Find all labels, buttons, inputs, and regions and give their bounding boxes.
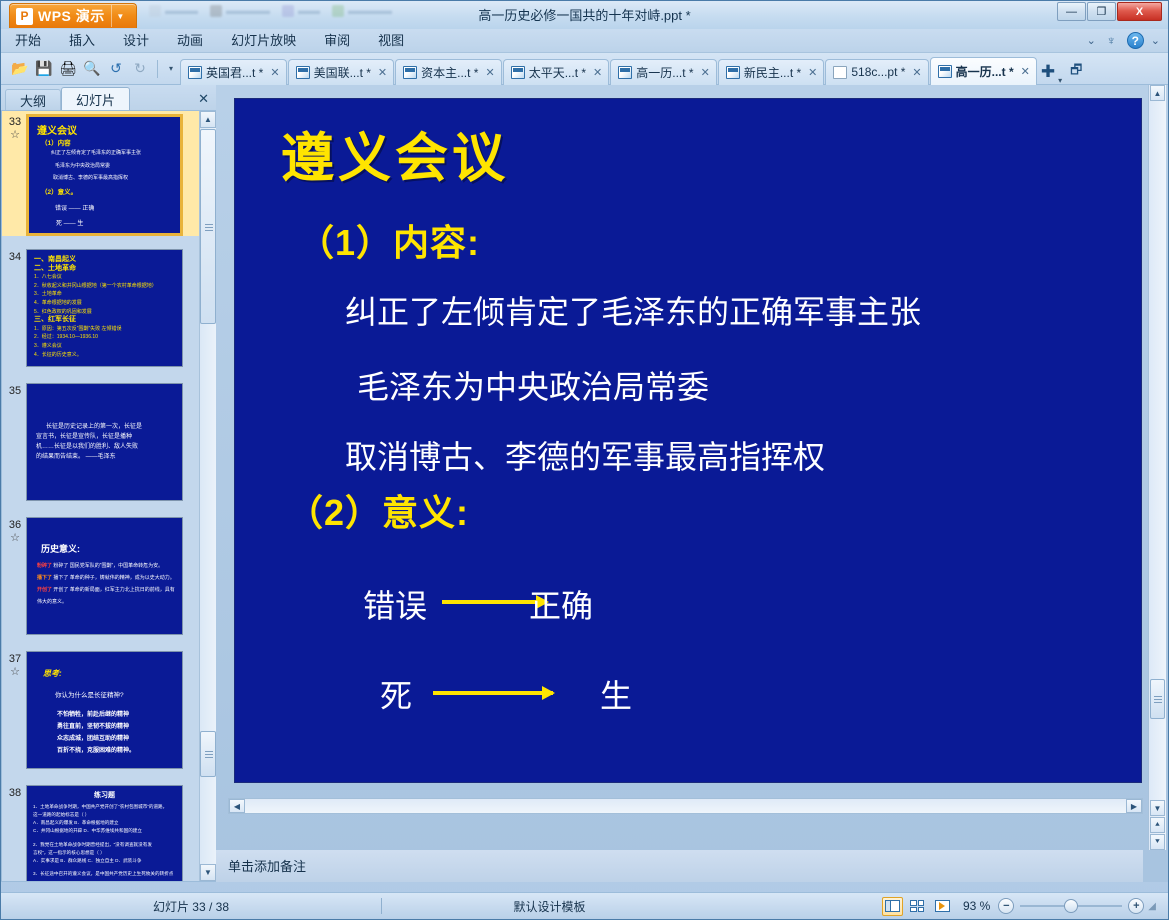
toolbar-separator (157, 60, 158, 78)
thumb-line: 5．红色政权的巩固和发展 (34, 308, 178, 317)
scrollbar-grip-icon (205, 751, 213, 760)
title-bar: P WPS 演示 ▼ ▬▬▬ ▬▬▬▬ ▬▬ ▬▬▬▬ 高一历史必修一国共的十年… (1, 1, 1168, 29)
next-slide-button[interactable]: ⯆ (1150, 834, 1165, 850)
scroll-up-button[interactable]: ▲ (200, 111, 216, 128)
pane-tab-bar: 大纲 幻灯片 ✕ (1, 85, 216, 110)
doc-tab-label: 资本主...t * (421, 64, 478, 81)
scroll-left-button[interactable]: ◀ (229, 799, 245, 813)
previous-slide-button[interactable]: ⯅ (1150, 817, 1165, 833)
scrollbar-grip-icon (205, 224, 213, 233)
thumb-line: 百折不挠，克服困难的精神。 (57, 745, 135, 757)
thumb-line: 的结果而告结束。 ——毛泽东 (36, 452, 176, 462)
window-list-icon[interactable]: 🗗 (1066, 59, 1090, 85)
doc-tab-1[interactable]: 美国联...t * ✕ (288, 59, 395, 85)
scroll-right-button[interactable]: ▶ (1126, 799, 1142, 813)
thumb-highlight: 开创了 (37, 587, 52, 593)
thumbnail-number: 35 (4, 385, 26, 398)
thumb-line: 3．长征途中召开的遵义会议，是中国共产党历史上生死攸关的转折点 (33, 870, 178, 878)
doc-tab-label: 高一历...t * (956, 63, 1014, 80)
thumb-line: 粉碎了 国民党军队的“围剿”，中国革命转危为安。 (53, 563, 163, 569)
thumbnail-preview: 长征是历史记录上的第一次，长征是 宣言书，长征是宣传队，长征是播种 机……长征是… (26, 383, 183, 501)
animation-star-icon: ☆ (4, 666, 26, 679)
close-icon[interactable]: ✕ (808, 66, 817, 79)
doc-tab-label: 518c...pt * (851, 65, 905, 79)
resize-grip-icon[interactable]: ◢ (1148, 901, 1156, 912)
open-icon[interactable]: 📂 (9, 58, 31, 80)
thumb-line: 4．长征的历史意义。 (34, 351, 178, 360)
thumbnail-meta: 37 ☆ (4, 651, 26, 679)
thumb-line: 不怕牺牲，前赴后继的精神 (57, 709, 135, 721)
close-icon[interactable]: ✕ (912, 66, 921, 79)
thumbnail-slide-33[interactable]: 33 ☆ 遵义会议 （1）内容 纠正了左倾肯定了毛泽东的正确军事主张 毛泽东为中… (2, 111, 216, 236)
document-icon (833, 66, 847, 79)
current-slide[interactable]: 遵义会议 （1）内容: 纠正了左倾肯定了毛泽东的正确军事主张 毛泽东为中央政治局… (234, 98, 1142, 783)
thumbnail-slide-35[interactable]: 35 长征是历史记录上的第一次，长征是 宣言书，长征是宣传队，长征是播种 机……… (2, 380, 216, 501)
menu-item-view[interactable]: 视图 (364, 29, 418, 53)
wps-presentation-window: P WPS 演示 ▼ ▬▬▬ ▬▬▬▬ ▬▬ ▬▬▬▬ 高一历史必修一国共的十年… (0, 0, 1169, 920)
presentation-icon (938, 65, 952, 78)
print-preview-icon[interactable]: 🔍 (81, 58, 103, 80)
thumbnail-meta: 33 ☆ (4, 114, 26, 142)
zoom-out-button[interactable]: − (998, 898, 1014, 914)
close-button[interactable]: X (1117, 2, 1162, 21)
maximize-button[interactable]: ❐ (1087, 2, 1116, 21)
thumb-line: 机……长征是以我们的胜利、敌人失败 (36, 442, 176, 452)
thumb-line: 3．遵义会议 (34, 342, 178, 351)
thumb-line: 你认为什么是长征精神? (55, 689, 124, 699)
zoom-slider-handle[interactable] (1064, 899, 1078, 913)
thumb-line: 纠正了左倾肯定了毛泽东的正确军事主张 (51, 149, 141, 156)
background-window-tabs: ▬▬▬ ▬▬▬▬ ▬▬ ▬▬▬▬ (137, 5, 392, 17)
thumb-line: 毛泽东为中央政治局常委 (55, 162, 110, 169)
thumb-line: （2）意义。 (41, 186, 77, 196)
thumbnail-meta: 36 ☆ (4, 517, 26, 545)
thumb-line: 错误 —— 正确 (55, 203, 94, 212)
thumbnail-preview: 思考: 你认为什么是长征精神? 不怕牺牲，前赴后继的精神 勇往直前，坚韧不拔的精… (26, 651, 183, 769)
thumb-line: 取消博古、李德的军事最高指挥权 (53, 174, 128, 181)
slide-section-1-heading[interactable]: （1）内容: (298, 214, 480, 266)
thumb-line: 长征是历史记录上的第一次，长征是 (36, 422, 176, 432)
thumb-line: 3．土地革命 (34, 290, 178, 299)
thumbnail-number: 37 (4, 653, 26, 666)
wps-app-label: WPS 演示 (38, 6, 105, 26)
thumb-line: 播下了 革命的种子，铸就伟的精神，成为以史大动力。 (53, 575, 174, 581)
zoom-level-label: 93 % (963, 899, 990, 913)
pair-1-right[interactable]: 正确 (529, 581, 593, 627)
new-tab-dropdown-icon[interactable]: ▾ (1058, 61, 1066, 85)
thumbnail-preview: 练习题 1．土地革命战争时期，中国共产党开创了“农村包围城市”的道路， 这一道路… (26, 785, 183, 882)
scrollbar-thumb[interactable] (200, 129, 216, 324)
zoom-slider[interactable] (1018, 898, 1124, 914)
thumbnail-slide-37[interactable]: 37 ☆ 思考: 你认为什么是长征精神? 不怕牺牲，前赴后继的精神 勇往直前，坚… (2, 648, 216, 769)
thumb-line: 二、土地革命 (34, 265, 178, 274)
slide-content-line-1[interactable]: 纠正了左倾肯定了毛泽东的正确军事主张 (345, 287, 921, 333)
doc-tab-2[interactable]: 资本主...t * ✕ (395, 59, 502, 85)
slide-thumbnail-list[interactable]: 33 ☆ 遵义会议 （1）内容 纠正了左倾肯定了毛泽东的正确军事主张 毛泽东为中… (1, 110, 216, 882)
design-template-label: 默认设计模板 (382, 898, 717, 915)
close-icon[interactable]: ✕ (270, 66, 279, 79)
close-icon[interactable]: ✕ (378, 66, 387, 79)
thumb-line: 死 —— 生 (56, 218, 83, 227)
play-icon (935, 900, 950, 912)
doc-tab-label: 美国联...t * (314, 64, 371, 81)
main-area: 大纲 幻灯片 ✕ 33 ☆ 遵义会议 （1）内容 纠正了左倾肯定了毛泽东的正确军… (1, 85, 1168, 882)
normal-view-icon (885, 900, 900, 912)
skin-icon[interactable]: ♆ (1103, 32, 1120, 49)
pair-1-left[interactable]: 错误 (363, 581, 427, 627)
more-chevron-icon[interactable]: ⌄ (1151, 34, 1160, 47)
chevron-down-icon[interactable]: ▼ (111, 5, 129, 27)
doc-tab-5[interactable]: 新民主...t * ✕ (718, 59, 825, 85)
doc-tab-6[interactable]: 518c...pt * ✕ (825, 59, 928, 85)
undo-icon[interactable]: ↺ (105, 58, 127, 80)
menu-item-start[interactable]: 开始 (1, 29, 55, 53)
menu-item-animation[interactable]: 动画 (163, 29, 217, 53)
status-right-group: 93 % − + ◢ (882, 897, 1168, 916)
toolbar-overflow-icon[interactable]: ▾ (164, 58, 178, 80)
chevron-down-icon[interactable]: ⌄ (1087, 34, 1096, 47)
status-bar: 幻灯片 33 / 38 默认设计模板 93 % − + ◢ (1, 892, 1168, 919)
thumb-line: A．实事求是 B．群众路线 C．独立自主 D．武装斗争 (33, 857, 178, 865)
thumbnail-number: 38 (4, 787, 26, 800)
help-icon[interactable]: ? (1127, 32, 1144, 49)
slideshow-button[interactable] (932, 897, 953, 916)
ghost-tab: ▬▬▬ (149, 5, 198, 17)
pair-2-right[interactable]: 生 (600, 671, 632, 717)
thumbnail-number: 34 (4, 251, 26, 264)
ghost-tab: ▬▬▬▬ (332, 5, 392, 17)
thumbnail-scrollbar[interactable]: ▲ ▼ (199, 111, 216, 881)
vertical-scrollbar[interactable]: ▲ ▼ ⯅ ⯆ (1148, 85, 1166, 850)
scroll-down-button[interactable]: ▼ (200, 864, 216, 881)
thumbnail-meta: 38 (4, 785, 26, 800)
slide-content-line-3[interactable]: 取消博古、李德的军事最高指挥权 (345, 432, 825, 478)
thumb-title: 遵义会议 (37, 122, 77, 137)
thumb-line: 言权”，这一指示的核心思想是（ ） (33, 849, 178, 857)
scrollbar-grip-icon (1154, 696, 1162, 705)
doc-tab-label: 新民主...t * (744, 64, 801, 81)
notes-placeholder[interactable]: 单击添加备注 (216, 850, 1143, 882)
wps-logo-icon: P (16, 8, 33, 25)
scroll-up-button[interactable]: ▲ (1150, 85, 1165, 101)
thumb-line: 4．革命根据地的发展 (34, 299, 178, 308)
tab-outline[interactable]: 大纲 (5, 89, 61, 110)
horizontal-scrollbar[interactable]: ◀ ▶ (228, 798, 1143, 814)
animation-star-icon: ☆ (4, 532, 26, 545)
thumb-line: 2．经过：1934.10—1936.10 (34, 333, 178, 342)
scrollbar-thumb-secondary[interactable] (200, 731, 216, 777)
menu-bar: 开始 插入 设计 动画 幻灯片放映 审阅 视图 ⌄ ♆ ? ⌄ (1, 29, 1168, 53)
slide-canvas-area: 遵义会议 （1）内容: 纠正了左倾肯定了毛泽东的正确军事主张 毛泽东为中央政治局… (216, 85, 1168, 850)
print-icon[interactable]: 🖨 (57, 58, 79, 80)
thumb-line: 一、南昌起义 (34, 256, 178, 265)
close-icon[interactable]: ✕ (701, 66, 710, 79)
presentation-icon (403, 66, 417, 79)
presentation-icon (511, 66, 525, 79)
tab-slides[interactable]: 幻灯片 (61, 87, 130, 110)
menu-item-slideshow[interactable]: 幻灯片放映 (217, 29, 310, 53)
zoom-in-button[interactable]: + (1128, 898, 1144, 914)
slide-section-2-heading[interactable]: （2）意义: (287, 484, 469, 536)
minimize-button[interactable]: — (1057, 2, 1086, 21)
window-controls: — ❐ X (1057, 2, 1162, 21)
quick-access-toolbar: 📂 💾 🖨 🔍 ↺ ↻ ▾ 英国君...t * ✕ 美国联...t * ✕ 资本… (1, 53, 1168, 85)
menu-right-icons: ⌄ ♆ ? ⌄ (1087, 32, 1160, 49)
close-icon[interactable]: ✕ (485, 66, 494, 79)
doc-tab-3[interactable]: 太平天...t * ✕ (503, 59, 610, 85)
scrollbar-thumb[interactable] (1150, 679, 1165, 719)
thumb-line: 勇往直前，坚韧不拔的精神 (57, 721, 135, 733)
thumb-line: 2．秋收起义和井冈山根据地（第一个农村革命根据地） (34, 282, 178, 291)
thumb-title: 练习题 (27, 790, 182, 800)
thumbnail-number: 33 (4, 116, 26, 129)
thumb-line: 2．我党在土地革命战争时期曾经提出，“没有调查就没有发 (33, 841, 178, 849)
document-tab-bar: 英国君...t * ✕ 美国联...t * ✕ 资本主...t * ✕ 太平天.… (180, 53, 1168, 85)
thumb-line: 这一道路的起始标志是（ ） (33, 811, 178, 819)
scroll-down-button[interactable]: ▼ (1150, 800, 1165, 816)
thumb-line: （1）内容 (41, 137, 71, 147)
new-tab-button[interactable]: ✚ (1038, 59, 1058, 85)
presentation-icon (618, 66, 632, 79)
normal-view-button[interactable] (882, 897, 903, 916)
doc-tab-label: 太平天...t * (529, 64, 586, 81)
doc-tab-0[interactable]: 英国君...t * ✕ (180, 59, 287, 85)
thumbnail-preview: 历史意义: 粉碎了 粉碎了 国民党军队的“围剿”，中国革命转危为安。 播下了 播… (26, 517, 183, 635)
thumbnail-preview: 一、南昌起义 二、土地革命 1．八七会议 2．秋收起义和井冈山根据地（第一个农村… (26, 249, 183, 367)
slide-title[interactable]: 遵义会议 (281, 116, 509, 192)
thumb-title: 思考: (43, 668, 62, 679)
thumb-title: 历史意义: (41, 542, 80, 555)
thumb-line: A．南昌起义的爆发 B．革命根据地的建立 (33, 819, 178, 827)
thumbnail-preview: 遵义会议 （1）内容 纠正了左倾肯定了毛泽东的正确军事主张 毛泽东为中央政治局常… (26, 114, 183, 236)
save-icon[interactable]: 💾 (33, 58, 55, 80)
menu-item-insert[interactable]: 插入 (55, 29, 109, 53)
slide-counter: 幻灯片 33 / 38 (1, 898, 381, 915)
menu-item-design[interactable]: 设计 (109, 29, 163, 53)
thumb-line: 众志成城，团结互助的精神 (57, 733, 135, 745)
thumb-line: 开创了 革命的新局面，红军主力北上抗日的前线，具有伟大的意义。 (37, 587, 175, 605)
close-icon[interactable]: ✕ (1021, 65, 1030, 78)
arrow-right-icon-2 (433, 691, 553, 695)
ghost-tab: ▬▬▬▬ (210, 5, 270, 17)
slide-sorter-icon (910, 900, 924, 912)
slide-editor-pane: 遵义会议 （1）内容: 纠正了左倾肯定了毛泽东的正确军事主张 毛泽东为中央政治局… (216, 85, 1168, 882)
thumb-line: 三、红军长征 (34, 316, 178, 325)
close-icon[interactable]: ✕ (593, 66, 602, 79)
doc-tab-7-active[interactable]: 高一历...t * ✕ (930, 57, 1037, 85)
thumbnail-slide-38[interactable]: 38 练习题 1．土地革命战争时期，中国共产党开创了“农村包围城市”的道路， 这… (2, 782, 216, 882)
slide-navigator-pane: 大纲 幻灯片 ✕ 33 ☆ 遵义会议 （1）内容 纠正了左倾肯定了毛泽东的正确军… (1, 85, 216, 882)
thumb-line: 1．土地革命战争时期，中国共产党开创了“农村包围城市”的道路， (33, 803, 178, 811)
thumb-highlight: 粉碎了 (37, 563, 52, 569)
thumb-line: 宣言书，长征是宣传队，长征是播种 (36, 432, 176, 442)
thumbnail-slide-34[interactable]: 34 一、南昌起义 二、土地革命 1．八七会议 2．秋收起义和井冈山根据地（第一… (2, 246, 216, 367)
presentation-icon (296, 66, 310, 79)
redo-icon[interactable]: ↻ (129, 58, 151, 80)
thumbnail-slide-36[interactable]: 36 ☆ 历史意义: 粉碎了 粉碎了 国民党军队的“围剿”，中国革命转危为安。 … (2, 514, 216, 635)
thumb-line: C．井冈山根据地的开辟 D．中华苏维埃共和国的建立 (33, 827, 178, 835)
thumb-line: 1．原因：第五次反“围剿”失败 左倾错误 (34, 325, 178, 334)
presentation-icon (188, 66, 202, 79)
slide-sorter-button[interactable] (907, 897, 928, 916)
thumbnail-number: 36 (4, 519, 26, 532)
ghost-tab: ▬▬ (282, 5, 320, 17)
doc-tab-label: 英国君...t * (206, 64, 263, 81)
animation-star-icon: ☆ (4, 129, 26, 142)
thumbnail-meta: 34 (4, 249, 26, 264)
pair-2-left[interactable]: 死 (380, 671, 412, 717)
wps-app-button[interactable]: P WPS 演示 ▼ (9, 3, 137, 28)
menu-item-review[interactable]: 审阅 (310, 29, 364, 53)
doc-tab-label: 高一历...t * (636, 64, 693, 81)
presentation-icon (726, 66, 740, 79)
thumbnail-meta: 35 (4, 383, 26, 398)
close-pane-icon[interactable]: ✕ (198, 91, 209, 107)
slide-content-line-2[interactable]: 毛泽东为中央政治局常委 (357, 362, 709, 408)
thumb-line: 1．八七会议 (34, 273, 178, 282)
doc-tab-4[interactable]: 高一历...t * ✕ (610, 59, 717, 85)
thumb-highlight: 播下了 (37, 575, 52, 581)
